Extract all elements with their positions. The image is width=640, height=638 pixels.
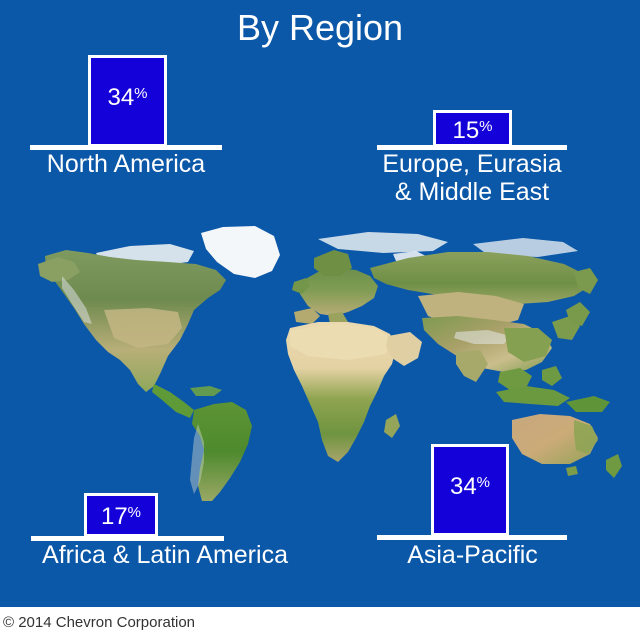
percent-symbol: % [477, 474, 490, 491]
bar-value-africa-latin-america: 17% [101, 505, 141, 529]
copyright-text: © 2014 Chevron Corporation [3, 614, 195, 632]
bar-value-europe-eurasia-middle-east: 15% [452, 119, 492, 143]
bar-label-europe-eurasia-middle-east-line1: Europe, Eurasia [362, 150, 582, 178]
percent-symbol: % [128, 504, 141, 521]
slide-canvas: By Region 34% North America 15% Europe, … [0, 0, 640, 607]
bar-north-america[interactable]: 34% [88, 55, 167, 147]
bar-label-africa-latin-america: Africa & Latin America [10, 541, 320, 569]
slide-root: By Region 34% North America 15% Europe, … [0, 0, 640, 638]
page-title: By Region [0, 6, 640, 50]
bar-value-asia-pacific: 34% [450, 475, 490, 499]
bar-asia-pacific[interactable]: 34% [431, 444, 509, 536]
bar-value-north-america: 34% [107, 86, 147, 110]
bar-label-europe-eurasia-middle-east-line2: & Middle East [362, 178, 582, 206]
bar-label-north-america: North America [0, 150, 252, 178]
bar-europe-eurasia-middle-east[interactable]: 15% [433, 110, 512, 147]
percent-symbol: % [134, 85, 147, 102]
bar-label-asia-pacific: Asia-Pacific [360, 541, 585, 569]
world-map [18, 224, 622, 502]
footer-bar: © 2014 Chevron Corporation [0, 607, 640, 638]
percent-symbol: % [479, 118, 492, 135]
bar-africa-latin-america[interactable]: 17% [84, 493, 158, 537]
